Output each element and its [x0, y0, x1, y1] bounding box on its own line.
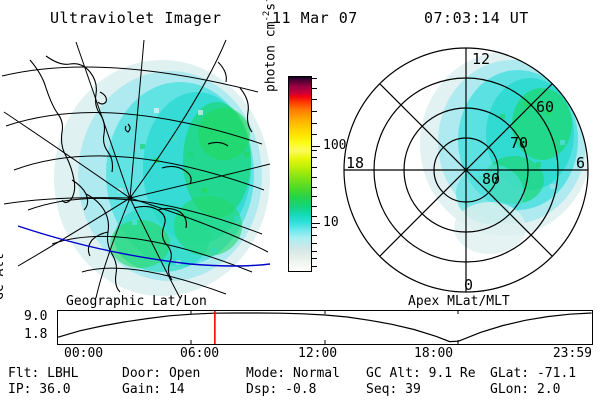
time-axis-tick-label: 23:59: [553, 346, 592, 361]
mlat-label-60: 60: [536, 98, 554, 116]
observation-date: 11 Mar 07: [272, 9, 358, 27]
strip-chart-ylabel: GC Alt: [0, 240, 7, 300]
sub-satellite-point: [128, 196, 133, 201]
status-field: Flt: LBHL: [8, 366, 78, 381]
colorbar-minor-tick: [311, 111, 317, 112]
status-row-1: Flt: LBHLDoor: OpenMode: NormalGC Alt: 9…: [0, 366, 600, 382]
colorbar-label-text: photon cm: [263, 22, 278, 92]
mlt-spokes: [344, 48, 588, 292]
colorbar-axis-label: photon cm-2s-1: [262, 0, 278, 92]
colorbar-major-tick: [311, 223, 320, 224]
colorbar-label-mid: s: [263, 3, 278, 11]
status-field: IP: 36.0: [8, 382, 71, 397]
colorbar-panel[interactable]: photon cm-2s-1 10010: [286, 70, 346, 285]
geographic-panel-title: Geographic Lat/Lon: [66, 294, 207, 309]
mlt-dial-svg: 12 18 6 0 60 70 80: [340, 44, 596, 296]
mlt-dial-panel[interactable]: 12 18 6 0 60 70 80: [340, 44, 596, 296]
status-field: Seq: 39: [366, 382, 421, 397]
colorbar-minor-tick: [311, 150, 317, 151]
header-bar: Ultraviolet Imager 11 Mar 07 07:03:14 UT: [0, 6, 600, 32]
gc-altitude-strip-chart[interactable]: [57, 310, 593, 345]
colorbar-tick-label: 10: [323, 216, 339, 229]
status-field: Dsp: -0.8: [246, 382, 316, 397]
colorbar-minor-tick: [311, 88, 317, 89]
strip-chart-ytick-bottom: 1.8: [24, 327, 47, 342]
colorbar-minor-tick: [311, 235, 317, 236]
colorbar-minor-tick: [311, 266, 317, 267]
geographic-map-svg: [12, 48, 270, 290]
colorbar-minor-tick: [311, 167, 317, 168]
mlt-label-0: 0: [464, 276, 473, 294]
colorbar-minor-tick: [311, 243, 317, 244]
colorbar-minor-tick: [311, 134, 317, 135]
strip-chart-svg: [58, 311, 592, 344]
time-axis-tick-label: 06:00: [180, 346, 219, 361]
colorbar-minor-tick: [311, 258, 317, 259]
status-field: Door: Open: [122, 366, 200, 381]
time-axis-tick-label: 12:00: [298, 346, 337, 361]
colorbar-gradient: [288, 76, 312, 272]
status-field: GLat: -71.1: [490, 366, 576, 381]
status-field: GLon: 2.0: [490, 382, 560, 397]
colorbar-label-exp1: -2: [262, 11, 272, 22]
mlt-panel-title: Apex MLat/MLT: [408, 294, 510, 309]
colorbar-minor-tick: [311, 99, 317, 100]
colorbar-minor-tick: [311, 157, 317, 158]
time-axis-tick-label: 18:00: [414, 346, 453, 361]
colorbar-minor-tick: [311, 196, 317, 197]
mlat-label-70: 70: [510, 134, 528, 152]
mlt-label-18: 18: [346, 154, 364, 172]
colorbar-minor-tick: [311, 187, 317, 188]
observation-time: 07:03:14 UT: [424, 9, 529, 27]
page-title: Ultraviolet Imager: [50, 9, 222, 27]
colorbar-minor-tick: [311, 78, 317, 79]
time-axis-tick-label: 00:00: [64, 346, 103, 361]
strip-chart-time-axis: 00:0006:0012:0018:0023:59: [0, 346, 600, 362]
status-field: Mode: Normal: [246, 366, 340, 381]
status-row-2: IP: 36.0Gain: 14Dsp: -0.8Seq: 39GLon: 2.…: [0, 382, 600, 398]
colorbar-label-exp2: -1: [262, 0, 272, 3]
mlt-label-12: 12: [472, 50, 490, 68]
colorbar-minor-tick: [311, 123, 317, 124]
geographic-map-panel[interactable]: [12, 48, 270, 290]
mlat-label-80: 80: [482, 170, 500, 188]
strip-chart-xticks: [191, 311, 458, 344]
colorbar-minor-tick: [311, 251, 317, 252]
colorbar-minor-tick: [311, 177, 317, 178]
strip-chart-ytick-top: 9.0: [24, 309, 47, 324]
status-field: Gain: 14: [122, 382, 185, 397]
gc-altitude-curve: [58, 313, 592, 342]
colorbar-minor-tick: [311, 216, 317, 217]
colorbar-major-tick: [311, 146, 320, 147]
mlt-label-6: 6: [576, 154, 585, 172]
colorbar-minor-tick: [311, 206, 317, 207]
colorbar-minor-tick: [311, 227, 317, 228]
mlt-aurora-layer: [420, 52, 592, 254]
status-field: GC Alt: 9.1 Re: [366, 366, 476, 381]
